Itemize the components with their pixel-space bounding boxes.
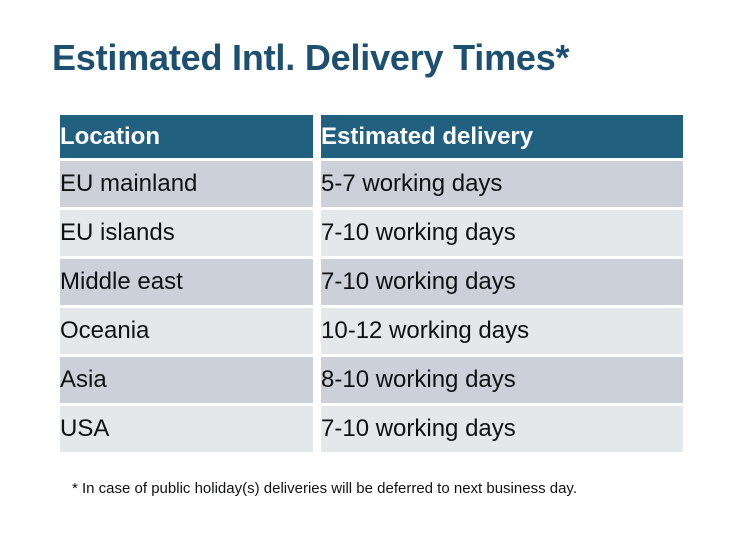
cell-location: Oceania xyxy=(60,308,313,354)
cell-location: EU mainland xyxy=(60,161,313,207)
column-header-estimated-delivery: Estimated delivery xyxy=(321,115,683,158)
cell-location: Middle east xyxy=(60,259,313,305)
table-row: Oceania 10-12 working days xyxy=(60,308,683,354)
page-title: Estimated Intl. Delivery Times* xyxy=(52,36,569,80)
delivery-times-page: Estimated Intl. Delivery Times* Location… xyxy=(0,0,745,536)
table-header-row: Location Estimated delivery xyxy=(60,115,683,158)
table-row: EU islands 7-10 working days xyxy=(60,210,683,256)
cell-delivery: 5-7 working days xyxy=(321,161,683,207)
cell-delivery: 7-10 working days xyxy=(321,259,683,305)
column-header-location: Location xyxy=(60,115,313,158)
table-row: USA 7-10 working days xyxy=(60,406,683,452)
cell-delivery: 8-10 working days xyxy=(321,357,683,403)
cell-location: Asia xyxy=(60,357,313,403)
table-body: EU mainland 5-7 working days EU islands … xyxy=(60,161,683,452)
table-row: Middle east 7-10 working days xyxy=(60,259,683,305)
table-row: Asia 8-10 working days xyxy=(60,357,683,403)
table-row: EU mainland 5-7 working days xyxy=(60,161,683,207)
footnote: * In case of public holiday(s) deliverie… xyxy=(72,480,577,497)
table-header: Location Estimated delivery xyxy=(60,115,683,158)
cell-location: USA xyxy=(60,406,313,452)
cell-delivery: 7-10 working days xyxy=(321,406,683,452)
cell-delivery: 7-10 working days xyxy=(321,210,683,256)
cell-location: EU islands xyxy=(60,210,313,256)
cell-delivery: 10-12 working days xyxy=(321,308,683,354)
delivery-times-table: Location Estimated delivery EU mainland … xyxy=(52,112,691,455)
